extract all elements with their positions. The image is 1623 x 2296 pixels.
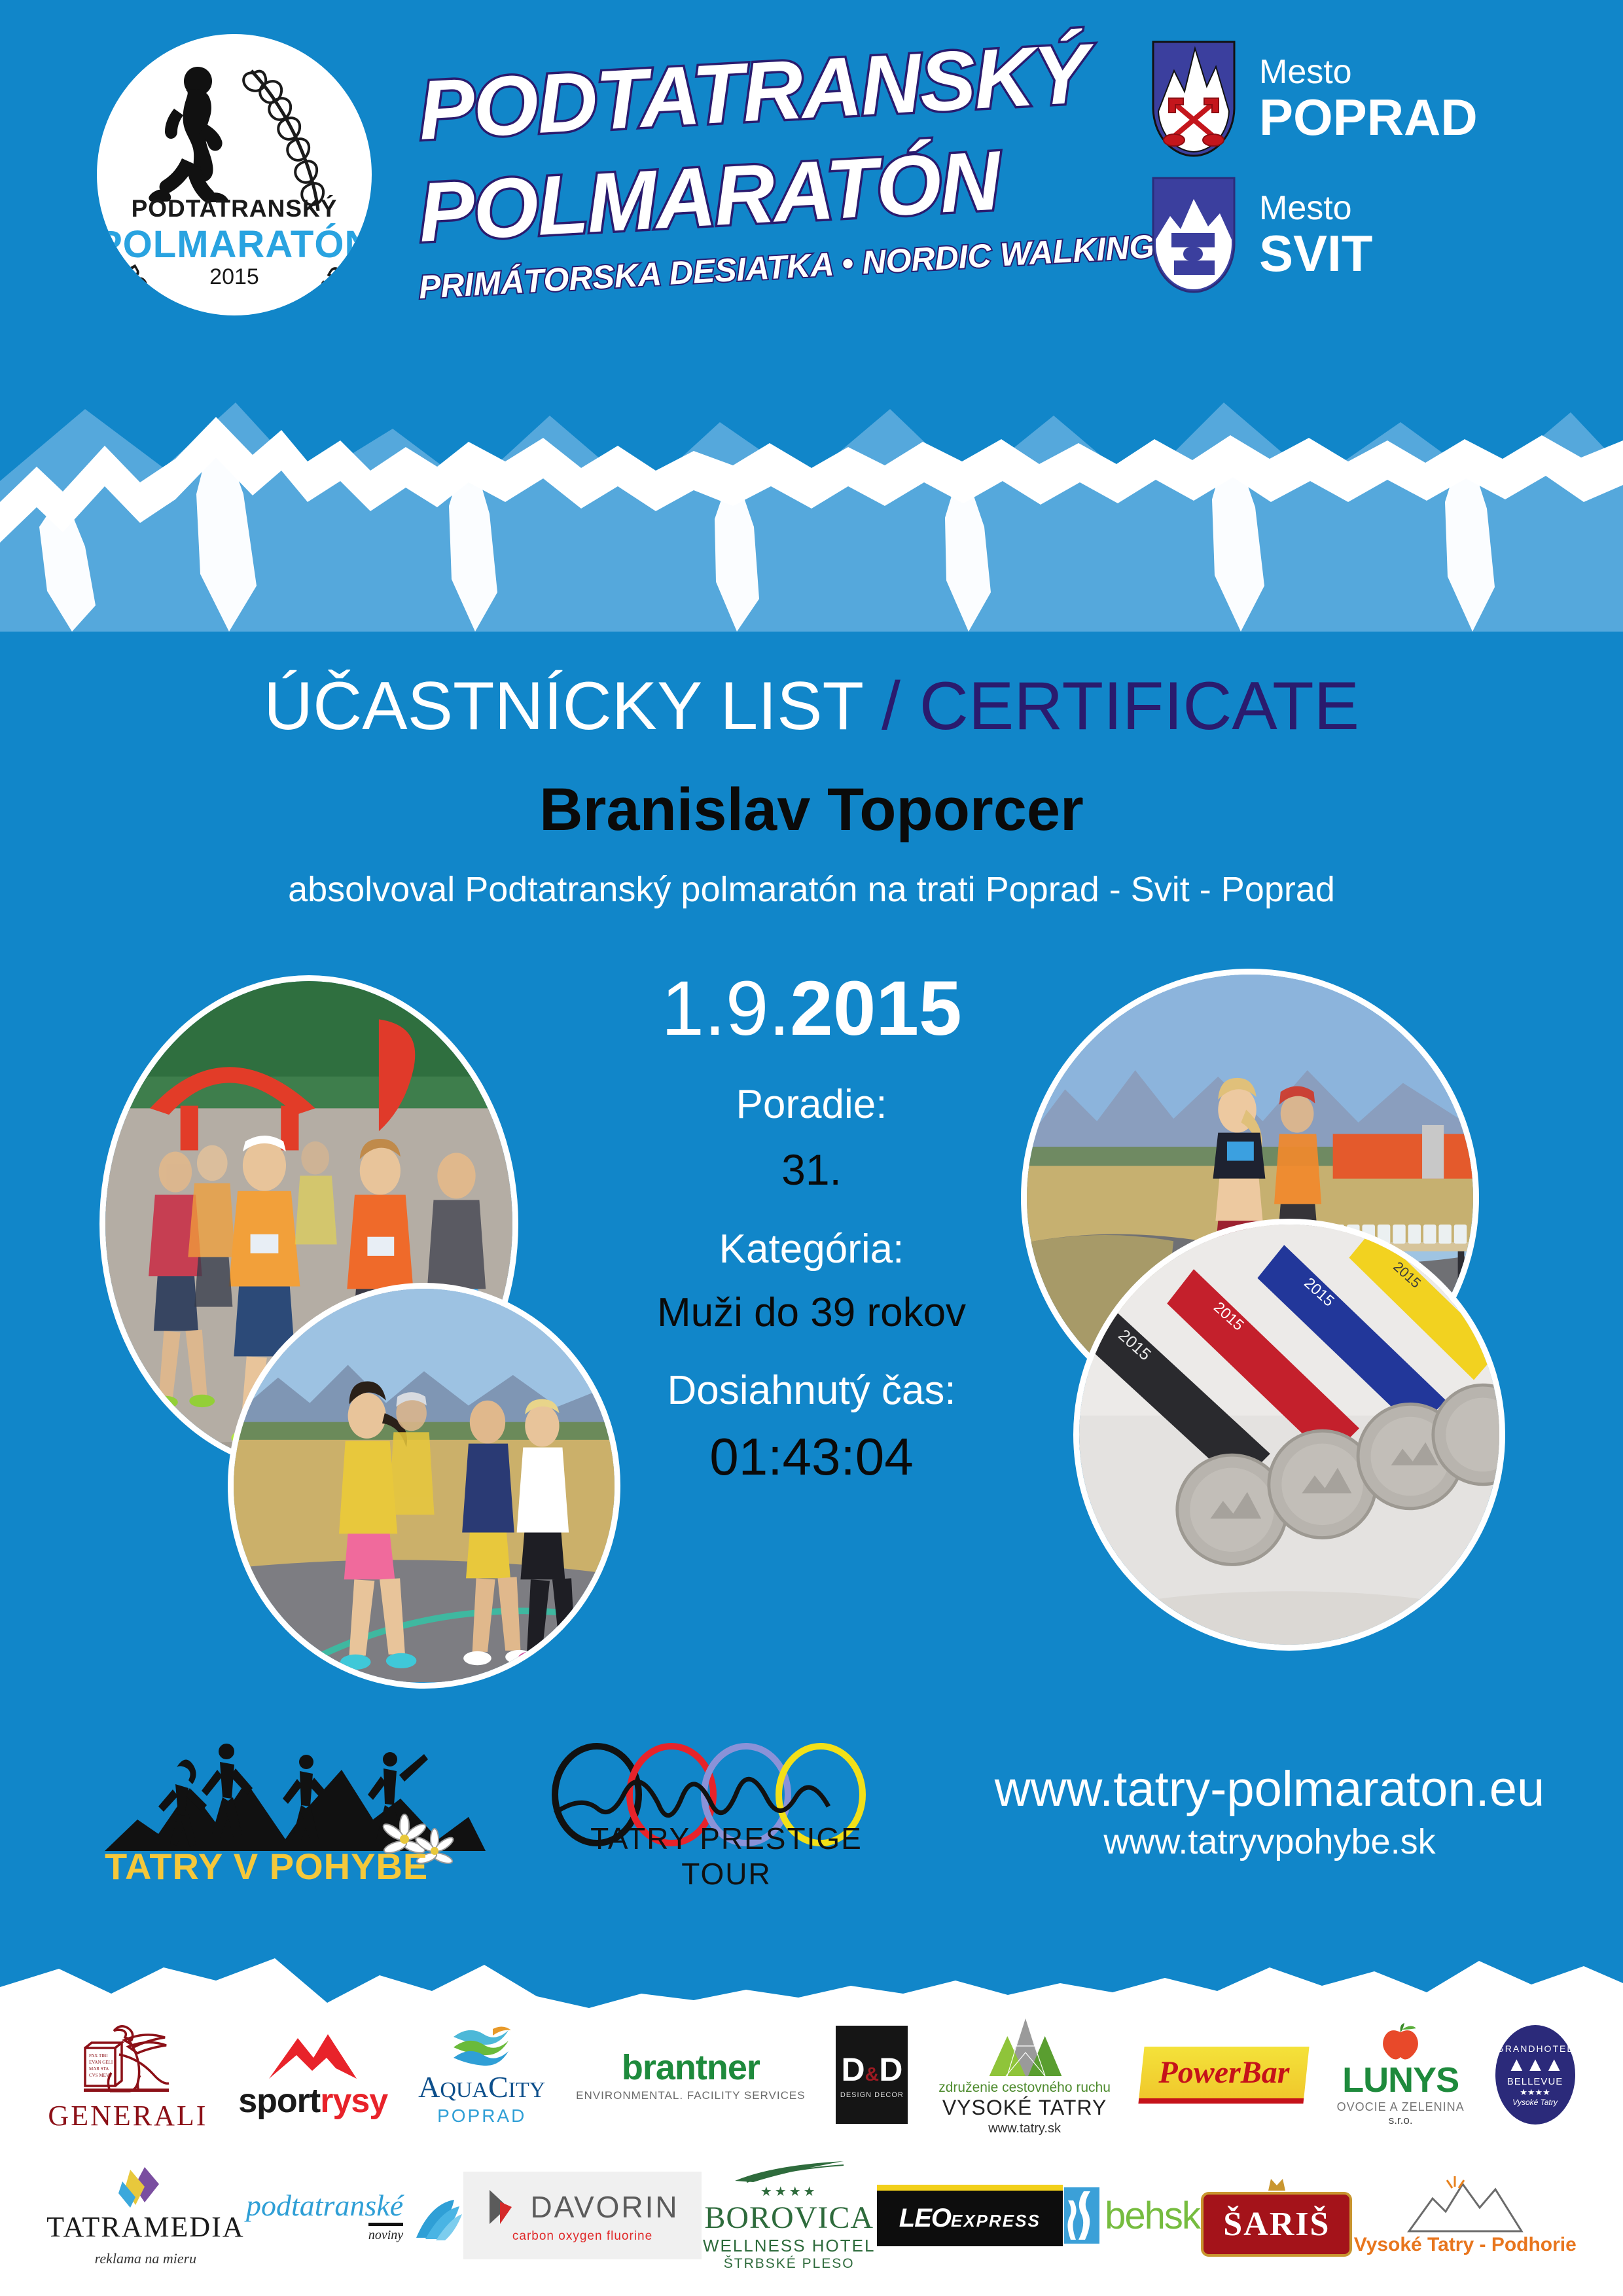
crest-svit: Mesto SVIT xyxy=(1152,173,1564,297)
medals-photo: 2015 2015 2015 2015 xyxy=(1073,1219,1505,1651)
field-runners-photo xyxy=(228,1283,620,1689)
laurel-branch-icon xyxy=(240,60,338,214)
leo-express-label: LEOEXPRESS xyxy=(899,2204,1041,2233)
borovica-sub1: WELLNESS HOTEL xyxy=(703,2236,876,2256)
davorin-label: DAVORIN xyxy=(530,2189,679,2225)
city-crests: Mesto POPRAD Mesto SVIT xyxy=(1152,37,1564,312)
generali-label: GENERALI xyxy=(48,2099,207,2132)
leo-label: LEO xyxy=(899,2204,951,2233)
aquacity-label: AQUACITY xyxy=(418,2070,545,2104)
sponsor-row-1: PAX TIBIEVAN GELI MAR STACVS MEVS GENERA… xyxy=(0,2009,1623,2140)
podtatranske-fan-icon xyxy=(410,2197,462,2243)
crest-poprad-prefix: Mesto xyxy=(1259,55,1478,89)
vysoke-tatry-sub1: združenie cestovného ruchu xyxy=(938,2080,1111,2096)
crest-poprad: Mesto POPRAD xyxy=(1152,37,1564,161)
sponsor-davorin: DAVORIN carbon oxygen fluorine xyxy=(463,2172,701,2259)
behsk-label: behsk xyxy=(1105,2194,1200,2238)
brantner-sublabel: ENVIRONMENTAL. FACILITY SERVICES xyxy=(576,2089,805,2102)
svg-text:MAR STA: MAR STA xyxy=(89,2066,109,2072)
leo-express-sublabel: EXPRESS xyxy=(951,2211,1041,2231)
event-logo: PODTATRANSKÝ POLMARATÓN 2015 POPRAD - SV… xyxy=(97,34,372,315)
sponsor-aquacity: AQUACITY POPRAD xyxy=(418,2024,545,2126)
participant-name: Branislav Toporcer xyxy=(0,776,1623,844)
grandhotel-name: BELLEVUE xyxy=(1507,2076,1563,2087)
sportrysy-mountain-icon xyxy=(264,2029,362,2081)
rank-value: 31. xyxy=(563,1145,1060,1194)
sponsor-grandhotel-bellevue: GRANDHOTEL ▲▲▲ BELLEVUE ★★★★ Vysoké Tatr… xyxy=(1495,2025,1575,2125)
field-runners-photo-art xyxy=(234,1289,615,1682)
crest-poprad-name: POPRAD xyxy=(1259,92,1478,143)
certificate-subtitle: absolvoval Podtatranský polmaratón na tr… xyxy=(0,869,1623,910)
dd-sublabel: DESIGN DECOR xyxy=(840,2091,904,2099)
grandhotel-region: Vysoké Tatry xyxy=(1512,2098,1558,2107)
sponsor-leo-express: LEOEXPRESS xyxy=(877,2185,1063,2246)
event-title: PODTATRANSKÝ POLMARATÓN PRIMÁTORSKA DESI… xyxy=(419,26,1119,327)
grandhotel-stars: ★★★★ xyxy=(1520,2087,1550,2098)
dd-logo-box: D&D DESIGN DECOR xyxy=(836,2026,908,2124)
vysoke-tatry-website: www.tatry.sk xyxy=(988,2121,1061,2136)
davorin-arrow-icon xyxy=(486,2187,522,2227)
borovica-pine-icon xyxy=(734,2160,845,2183)
event-logo-line1: PODTATRANSKÝ xyxy=(97,195,372,223)
mountain-silhouette-band xyxy=(0,331,1623,632)
website-main[interactable]: www.tatry-polmaraton.eu xyxy=(942,1761,1597,1818)
sportrysy-label-a: sport xyxy=(238,2082,320,2120)
sponsor-borovica: ★★★★ BOROVICA WELLNESS HOTEL ŠTRBSKÉ PLE… xyxy=(703,2160,876,2272)
grandhotel-peaks-icon: ▲▲▲ xyxy=(1507,2054,1563,2076)
svg-text:PAX TIBI: PAX TIBI xyxy=(89,2053,108,2058)
aquacity-b: QUA xyxy=(440,2078,488,2102)
saris-shield: ŠARIŠ xyxy=(1201,2192,1352,2257)
tatramedia-prism-icon xyxy=(116,2164,175,2210)
sponsor-generali: PAX TIBIEVAN GELI MAR STACVS MEVS GENERA… xyxy=(48,2018,207,2132)
sportrysy-label: sportrysy xyxy=(238,2081,387,2121)
certificate-heading-en: CERTIFICATE xyxy=(919,668,1359,744)
tatry-prestige-tour-logo: TATRY PRESTIGE TOUR xyxy=(543,1741,910,1892)
grandhotel-oval: GRANDHOTEL ▲▲▲ BELLEVUE ★★★★ Vysoké Tatr… xyxy=(1495,2025,1575,2125)
aquacity-d: ITY xyxy=(508,2078,546,2102)
saris-label: ŠARIŠ xyxy=(1223,2206,1330,2243)
svg-text:EVAN GELI: EVAN GELI xyxy=(89,2060,113,2065)
certificate-page: PODTATRANSKÝ POLMARATÓN 2015 POPRAD - SV… xyxy=(0,0,1623,2296)
svg-text:CVS MEVS: CVS MEVS xyxy=(89,2073,112,2078)
certificate-heading: ÚČASTNÍCKY LIST / CERTIFICATE xyxy=(0,668,1623,745)
crest-svit-prefix: Mesto xyxy=(1259,191,1372,225)
sponsor-vysoke-tatry: združenie cestovného ruchu VYSOKÉ TATRY … xyxy=(938,2013,1111,2136)
svit-coat-of-arms-icon xyxy=(1152,177,1236,293)
aquacity-c: C xyxy=(488,2070,508,2104)
certificate-heading-sk: ÚČASTNÍCKY LIST xyxy=(264,668,863,744)
time-value: 01:43:04 xyxy=(563,1427,1060,1487)
generali-lion-icon: PAX TIBIEVAN GELI MAR STACVS MEVS xyxy=(79,2018,177,2096)
sponsor-lunys: LUNYS OVOCIE A ZELENINA s.r.o. xyxy=(1337,2023,1465,2127)
event-date: 1.9.2015 xyxy=(563,969,1060,1050)
tatramedia-label: TATRAMEDIA xyxy=(46,2210,244,2244)
podtatranske-sublabel: noviny xyxy=(368,2223,403,2243)
lunys-label: LUNYS xyxy=(1342,2060,1459,2100)
dd-label: D&D xyxy=(841,2051,902,2089)
lunys-sublabel: OVOCIE A ZELENINA xyxy=(1337,2100,1465,2114)
event-logo-arc-text: POPRAD - SVIT - POPRAD xyxy=(119,261,350,315)
vysoke-tatry-sub2: VYSOKÉ TATRY xyxy=(942,2096,1107,2120)
powerbar-label: PowerBar xyxy=(1158,2054,1289,2090)
davorin-sublabel: carbon oxygen fluorine xyxy=(512,2229,652,2244)
tatry-prestige-tour-label: TATRY PRESTIGE TOUR xyxy=(543,1821,910,1892)
borovica-sub2: ŠTRBSKÉ PLESO xyxy=(724,2256,855,2272)
sponsor-saris: ŠARIŠ xyxy=(1201,2175,1352,2257)
grandhotel-top: GRANDHOTEL xyxy=(1497,2043,1573,2054)
sponsor-dd-design-decor: D&D DESIGN DECOR xyxy=(836,2026,908,2124)
tatry-v-pohybe-label: TATRY V POHYBE xyxy=(105,1845,428,1888)
tatramedia-sublabel: reklama na mieru xyxy=(95,2250,197,2267)
sponsor-behsk: behsk xyxy=(1064,2187,1200,2244)
vysoke-tatry-podhorie-mountain-icon xyxy=(1406,2175,1524,2234)
aquacity-sublabel: POPRAD xyxy=(437,2106,526,2126)
website-block: www.tatry-polmaraton.eu www.tatryvpohybe… xyxy=(942,1761,1597,1862)
event-logo-route-arc: POPRAD - SVIT - POPRAD xyxy=(97,230,372,315)
podtatranske-label: podtatranské xyxy=(246,2188,403,2223)
certificate-heading-separator: / xyxy=(863,668,919,744)
category-value: Muži do 39 rokov xyxy=(563,1289,1060,1336)
vysoke-tatry-podhorie-label: Vysoké Tatry - Podhorie xyxy=(1354,2234,1577,2256)
website-secondary[interactable]: www.tatryvpohybe.sk xyxy=(942,1821,1597,1862)
poprad-coat-of-arms-icon xyxy=(1152,41,1236,157)
medals-photo-art: 2015 2015 2015 2015 xyxy=(1079,1225,1499,1645)
time-label: Dosiahnutý čas: xyxy=(563,1367,1060,1414)
rank-label: Poradie: xyxy=(563,1081,1060,1128)
borovica-label: BOROVICA xyxy=(704,2200,874,2236)
sponsor-powerbar: PowerBar xyxy=(1141,2047,1306,2104)
vysoke-tatry-polygon-mountain-icon xyxy=(982,2013,1067,2079)
category-label: Kategória: xyxy=(563,1226,1060,1272)
sponsor-brantner: brantner ENVIRONMENTAL. FACILITY SERVICE… xyxy=(576,2047,805,2102)
brantner-label: brantner xyxy=(622,2047,760,2088)
event-date-day: 1.9. xyxy=(661,965,790,1052)
result-details: 1.9.2015 Poradie: 31. Kategória: Muži do… xyxy=(563,969,1060,1487)
sponsor-row-2: TATRAMEDIA reklama na mieru podtatranské… xyxy=(0,2153,1623,2278)
aquacity-a: A xyxy=(418,2070,440,2104)
event-date-year: 2015 xyxy=(790,965,962,1052)
sponsor-tatramedia: TATRAMEDIA reklama na mieru xyxy=(46,2164,244,2267)
behsk-runner-icon xyxy=(1064,2187,1099,2244)
powerbar-box: PowerBar xyxy=(1138,2047,1309,2104)
sponsor-podtatranske-noviny: podtatranské noviny xyxy=(246,2188,462,2243)
svg-text:POPRAD - SVIT - POPRAD: POPRAD - SVIT - POPRAD xyxy=(119,261,350,315)
sponsor-vysoke-tatry-podhorie: Vysoké Tatry - Podhorie xyxy=(1354,2175,1577,2256)
tatry-v-pohybe-logo: TATRY V POHYBE xyxy=(98,1741,491,1892)
sportrysy-label-b: rysy xyxy=(320,2082,387,2120)
header: PODTATRANSKÝ POLMARATÓN 2015 POPRAD - SV… xyxy=(0,0,1623,353)
leo-express-box: LEOEXPRESS xyxy=(877,2185,1063,2246)
davorin-box: DAVORIN carbon oxygen fluorine xyxy=(463,2172,701,2259)
saris-crown-icon xyxy=(1267,2175,1287,2192)
borovica-stars: ★★★★ xyxy=(760,2183,818,2200)
lunys-sro: s.r.o. xyxy=(1389,2114,1413,2127)
aquacity-waves-icon xyxy=(446,2024,518,2070)
sponsor-sportrysy: sportrysy xyxy=(238,2029,387,2121)
lunys-apple-icon xyxy=(1381,2023,1420,2060)
crest-svit-name: SVIT xyxy=(1259,228,1372,279)
